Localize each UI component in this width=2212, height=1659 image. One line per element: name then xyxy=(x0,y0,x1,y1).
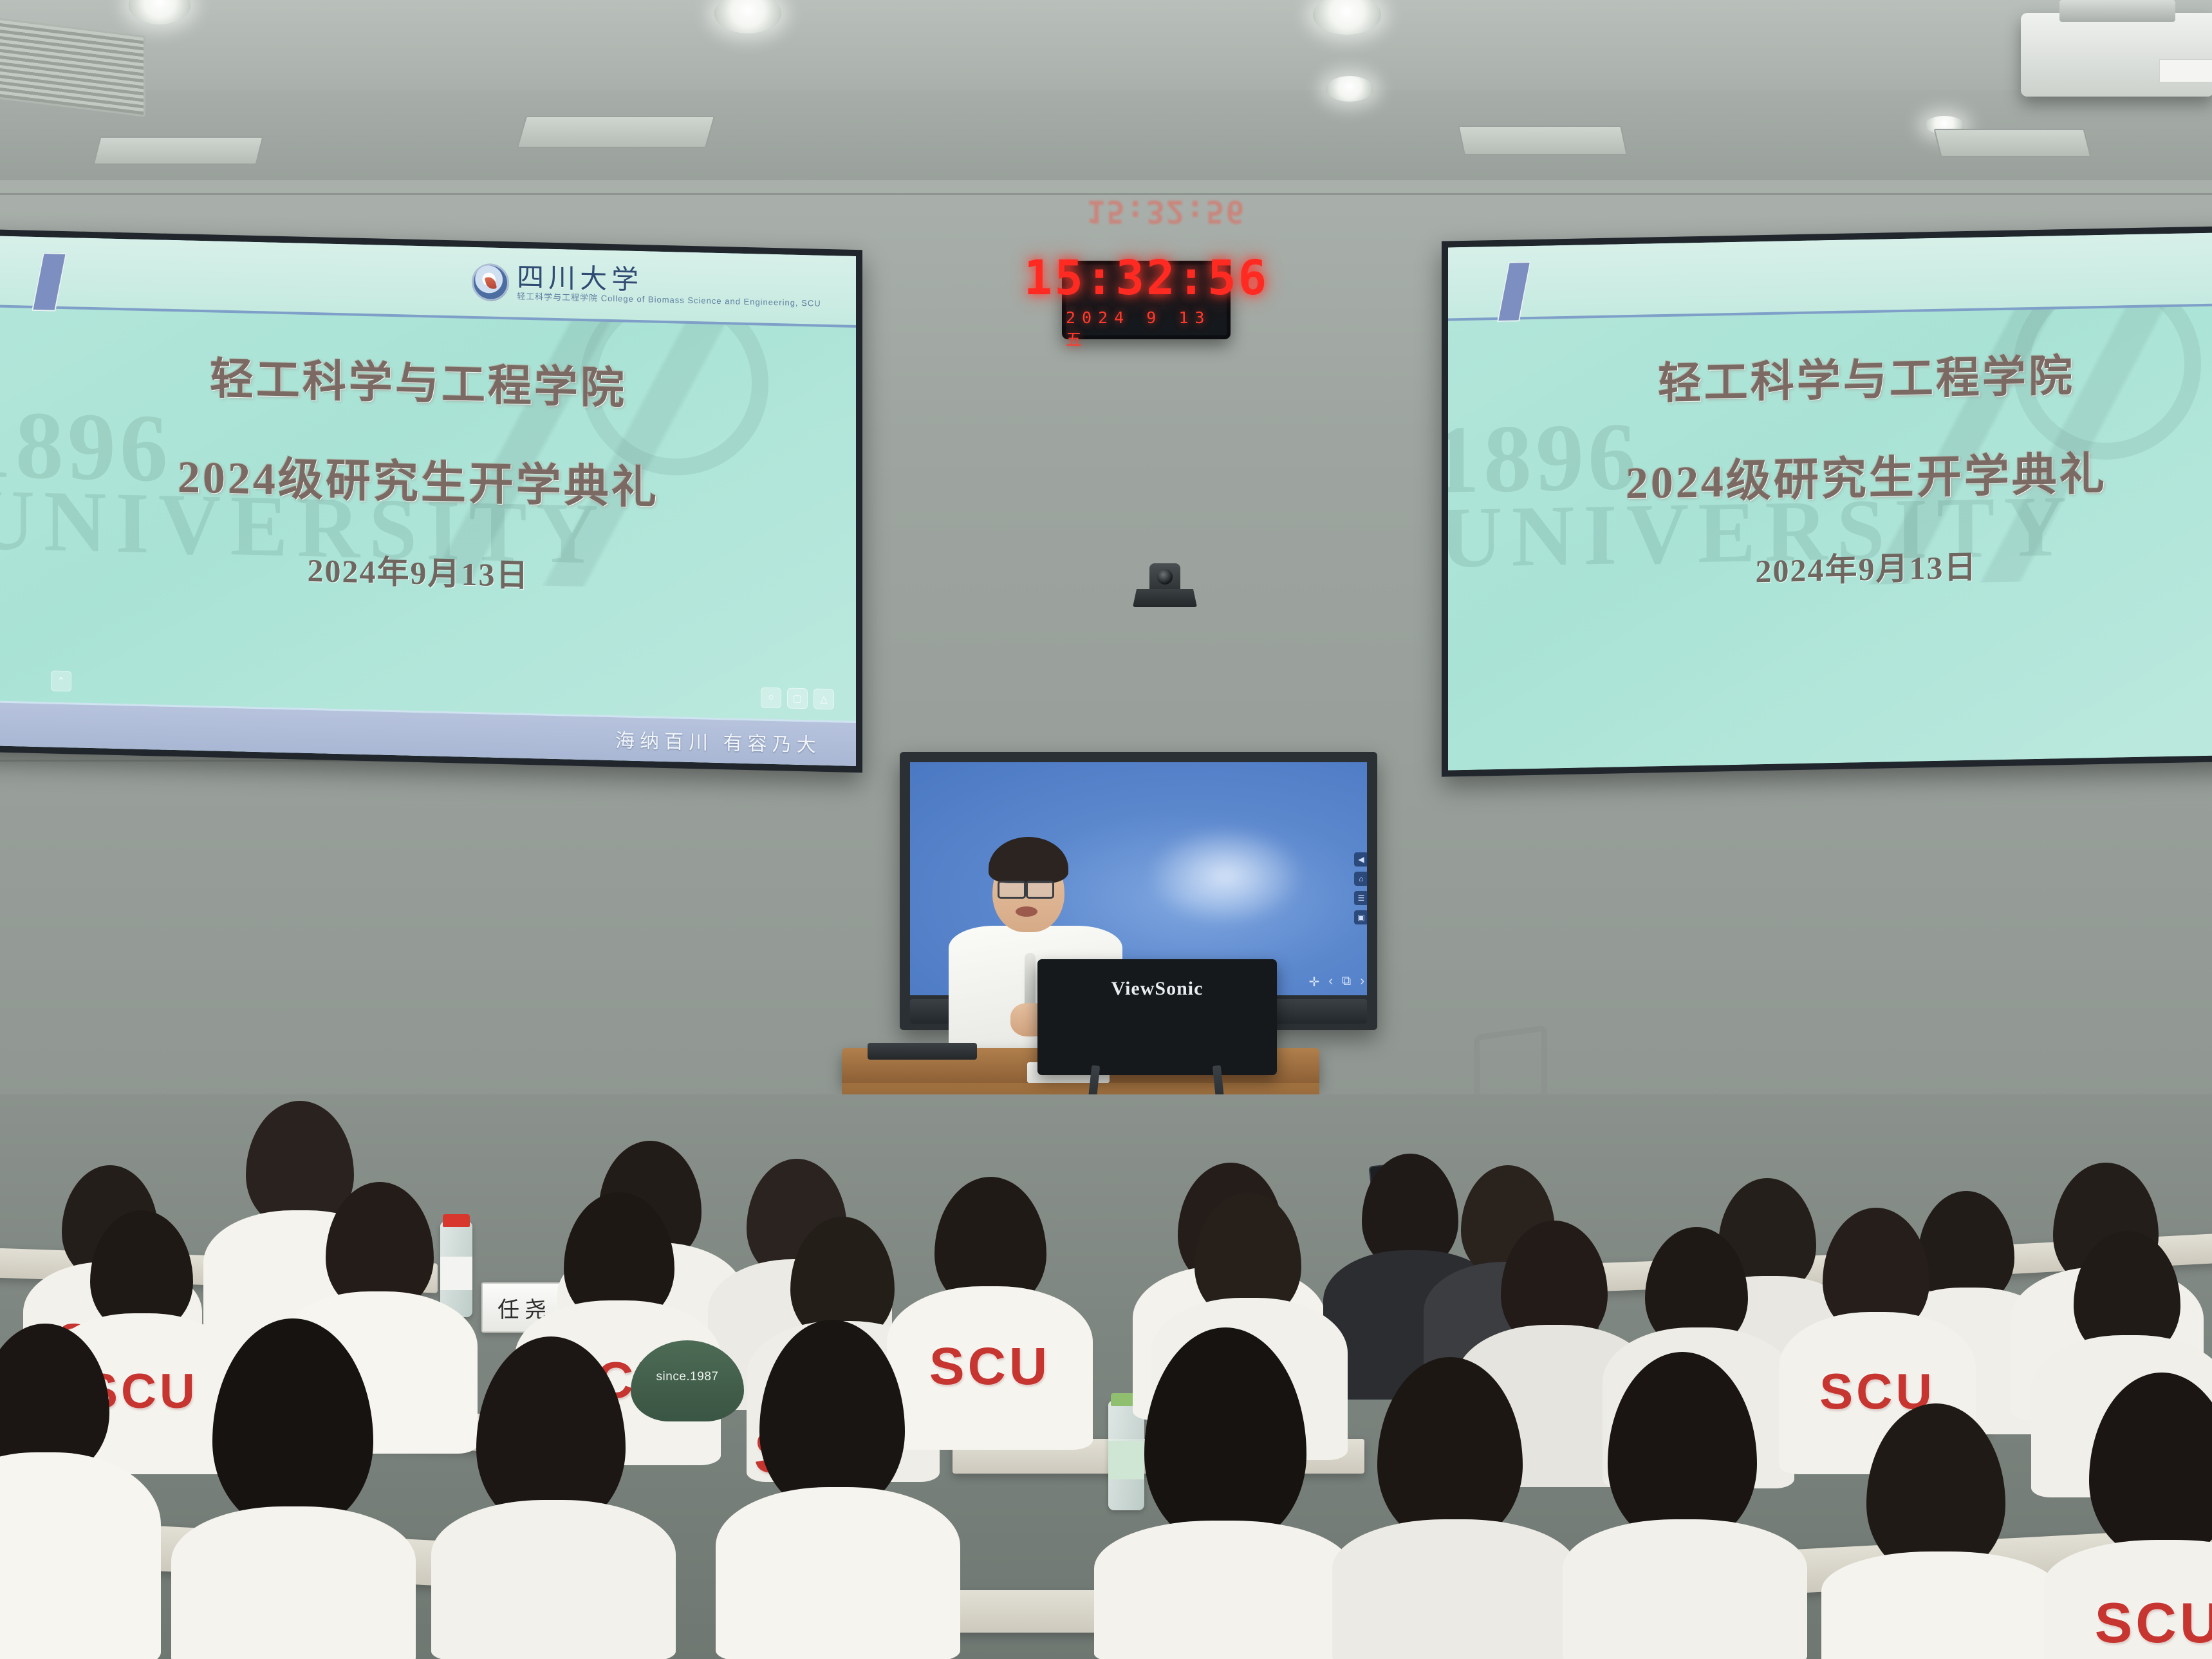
speaker-glasses xyxy=(998,881,1026,899)
projection-screen-right: 1896 UNIVERSITY 轻工科学与工程学院 2024级研究生开学典礼 2… xyxy=(1442,225,2212,776)
projection-screen-right-surface: 1896 UNIVERSITY 轻工科学与工程学院 2024级研究生开学典礼 2… xyxy=(1448,232,2212,771)
bottle-label xyxy=(440,1257,472,1290)
lecture-hall-photo: 1896 UNIVERSITY 四川大学 轻工科学与工程学院 College o… xyxy=(0,0,2212,1659)
slide-tray-icon-window: ▢ xyxy=(787,688,808,709)
bottle-label xyxy=(1108,1441,1144,1479)
audience-torso xyxy=(171,1506,416,1659)
slide-line-3: 2024年9月13日 xyxy=(0,537,856,604)
water-bottle xyxy=(440,1222,472,1317)
slide-right: 1896 UNIVERSITY 轻工科学与工程学院 2024级研究生开学典礼 2… xyxy=(1448,232,2212,771)
slide-tray-icon-shape: △ xyxy=(813,688,834,709)
ceiling-light-panel xyxy=(1458,126,1628,155)
audience-torso xyxy=(1332,1519,1577,1659)
slide-tray-icon-up: ⌃ xyxy=(51,670,71,691)
slide-footer-motto: 海纳百川 有容乃大 xyxy=(615,725,821,758)
whiteboard-icon-window[interactable]: ⧉ xyxy=(1342,974,1351,990)
whiteboard-icon-back[interactable]: ◀ xyxy=(1354,852,1368,867)
projector-mount xyxy=(2059,0,2175,22)
slide-tray-right: ○ ▢ △ xyxy=(761,687,834,709)
whiteboard-side-toolbar[interactable]: ◀ ⌂ ☰ ▣ xyxy=(1354,852,1368,924)
whiteboard-icon-prev[interactable]: ‹ xyxy=(1328,974,1333,990)
audience-torso xyxy=(0,1452,161,1659)
audience-shirt-text: SCU xyxy=(2079,1590,2212,1656)
audience-torso xyxy=(1094,1521,1352,1659)
audience-torso xyxy=(431,1500,676,1659)
clock-reflection: 15:32:56 xyxy=(1086,193,1245,229)
slide-tray-icon-search: ○ xyxy=(761,687,781,708)
ptz-camera-icon xyxy=(1133,563,1197,608)
clock-date: 2024 9 13 五 xyxy=(1066,308,1227,350)
viewsonic-monitor[interactable]: ViewSonic xyxy=(1037,959,1277,1075)
slide-line-3: 2024年9月13日 xyxy=(1448,536,2212,598)
whiteboard-icon-move[interactable]: ✛ xyxy=(1309,974,1320,990)
podium-cable-tray xyxy=(868,1043,977,1060)
clock-time: 15:32:56 xyxy=(1024,250,1269,306)
speaker-glasses xyxy=(1026,881,1054,899)
slide-line-1: 轻工科学与工程学院 xyxy=(1448,336,2212,416)
audience-shirt-text: SCU xyxy=(887,1336,1093,1397)
monitor-brand-label: ViewSonic xyxy=(1037,978,1277,1000)
ptz-camera-base xyxy=(1133,589,1197,607)
projection-screen-left: 1896 UNIVERSITY 四川大学 轻工科学与工程学院 College o… xyxy=(0,229,862,773)
whiteboard-icon-home[interactable]: ⌂ xyxy=(1354,872,1368,886)
projection-screen-left-surface: 1896 UNIVERSITY 四川大学 轻工科学与工程学院 College o… xyxy=(0,236,856,766)
slide-line-2: 2024级研究生开学典礼 xyxy=(1448,435,2212,516)
projector-label xyxy=(2159,59,2212,82)
ceiling-light-panel xyxy=(93,136,264,165)
whiteboard-icon-apps[interactable]: ▣ xyxy=(1354,910,1368,924)
whiteboard-nav-bar[interactable]: ✛ ‹ ⧉ › xyxy=(1309,974,1364,990)
slide-right-body: 轻工科学与工程学院 2024级研究生开学典礼 2024年9月13日 xyxy=(1448,336,2212,598)
audience-torso xyxy=(1563,1519,1807,1659)
led-clock: 15:32:56 2024 9 13 五 xyxy=(1062,261,1231,339)
slide-left-body: 轻工科学与工程学院 2024级研究生开学典礼 2024年9月13日 xyxy=(0,337,856,604)
speaker-hair xyxy=(989,837,1068,883)
speaker-mouth xyxy=(1016,906,1037,917)
cap-text: since.1987 xyxy=(631,1370,744,1384)
slide-line-2: 2024级研究生开学典礼 xyxy=(0,436,856,521)
slide-tray-left: ⌃ xyxy=(51,670,71,691)
ptz-camera-lens-icon xyxy=(1157,569,1173,585)
whiteboard-icon-next[interactable]: › xyxy=(1360,974,1364,990)
ceiling-downlight xyxy=(1326,76,1373,102)
ceiling-light-panel xyxy=(1934,129,2092,157)
whiteboard-icon-menu[interactable]: ☰ xyxy=(1354,891,1368,905)
audience-torso xyxy=(716,1487,960,1659)
ceiling-light-panel xyxy=(517,116,715,148)
university-seal-icon xyxy=(472,263,509,301)
ceiling-projector xyxy=(2021,13,2212,97)
screen-glare xyxy=(1148,827,1303,925)
audience-torso xyxy=(1821,1551,2059,1659)
slide-top-band xyxy=(1448,232,2212,321)
bottle-cap xyxy=(443,1214,470,1227)
slide-left: 1896 UNIVERSITY 四川大学 轻工科学与工程学院 College o… xyxy=(0,236,856,766)
